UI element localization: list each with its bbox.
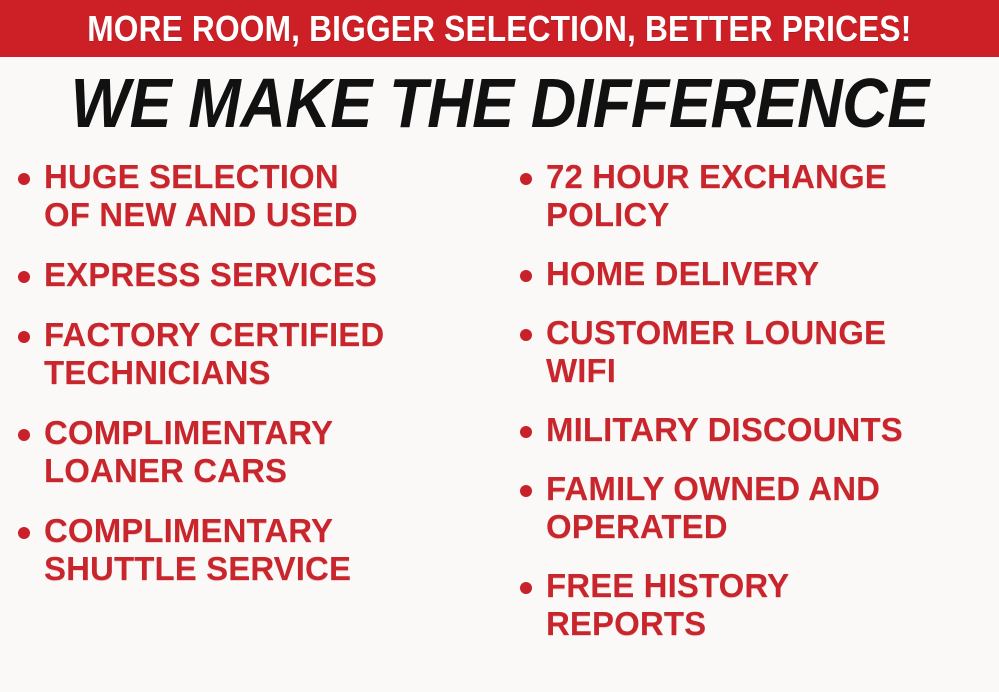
feature-item: COMPLIMENTARY LOANER CARS (18, 414, 500, 490)
feature-item: HOME DELIVERY (520, 255, 999, 293)
feature-item: MILITARY DISCOUNTS (520, 411, 999, 449)
bullet-dot-icon (520, 485, 532, 497)
feature-item-label: COMPLIMENTARY LOANER CARS (44, 414, 333, 490)
features-right-column: 72 HOUR EXCHANGE POLICYHOME DELIVERYCUST… (500, 158, 999, 664)
features-left-column: HUGE SELECTION OF NEW AND USEDEXPRESS SE… (0, 158, 500, 610)
feature-item: FREE HISTORY REPORTS (520, 567, 999, 643)
bullet-dot-icon (520, 270, 532, 282)
feature-item: FACTORY CERTIFIED TECHNICIANS (18, 316, 500, 392)
feature-item-label: HOME DELIVERY (546, 255, 819, 293)
feature-item-label: FREE HISTORY REPORTS (546, 567, 789, 643)
feature-item: CUSTOMER LOUNGE WIFI (520, 314, 999, 390)
features-columns: HUGE SELECTION OF NEW AND USEDEXPRESS SE… (0, 158, 999, 692)
top-banner: MORE ROOM, BIGGER SELECTION, BETTER PRIC… (0, 0, 999, 57)
feature-item-label: 72 HOUR EXCHANGE POLICY (546, 158, 887, 234)
feature-item: HUGE SELECTION OF NEW AND USED (18, 158, 500, 234)
bullet-dot-icon (520, 582, 532, 594)
feature-item-label: FAMILY OWNED AND OPERATED (546, 470, 880, 546)
bullet-dot-icon (18, 271, 30, 283)
bullet-dot-icon (520, 426, 532, 438)
feature-item: 72 HOUR EXCHANGE POLICY (520, 158, 999, 234)
feature-item: EXPRESS SERVICES (18, 256, 500, 294)
feature-item: COMPLIMENTARY SHUTTLE SERVICE (18, 512, 500, 588)
bullet-dot-icon (520, 329, 532, 341)
promotional-poster: MORE ROOM, BIGGER SELECTION, BETTER PRIC… (0, 0, 999, 692)
feature-item-label: MILITARY DISCOUNTS (546, 411, 903, 449)
banner-headline-text: MORE ROOM, BIGGER SELECTION, BETTER PRIC… (87, 11, 911, 47)
feature-item: FAMILY OWNED AND OPERATED (520, 470, 999, 546)
bullet-dot-icon (520, 173, 532, 185)
feature-item-label: HUGE SELECTION OF NEW AND USED (44, 158, 358, 234)
bullet-dot-icon (18, 173, 30, 185)
feature-item-label: EXPRESS SERVICES (44, 256, 377, 294)
bullet-dot-icon (18, 429, 30, 441)
feature-item-label: FACTORY CERTIFIED TECHNICIANS (44, 316, 384, 392)
headline-container: WE MAKE THE DIFFERENCE (0, 60, 999, 145)
bullet-dot-icon (18, 527, 30, 539)
page-title: WE MAKE THE DIFFERENCE (70, 68, 928, 138)
feature-item-label: CUSTOMER LOUNGE WIFI (546, 314, 886, 390)
bullet-dot-icon (18, 331, 30, 343)
feature-item-label: COMPLIMENTARY SHUTTLE SERVICE (44, 512, 351, 588)
